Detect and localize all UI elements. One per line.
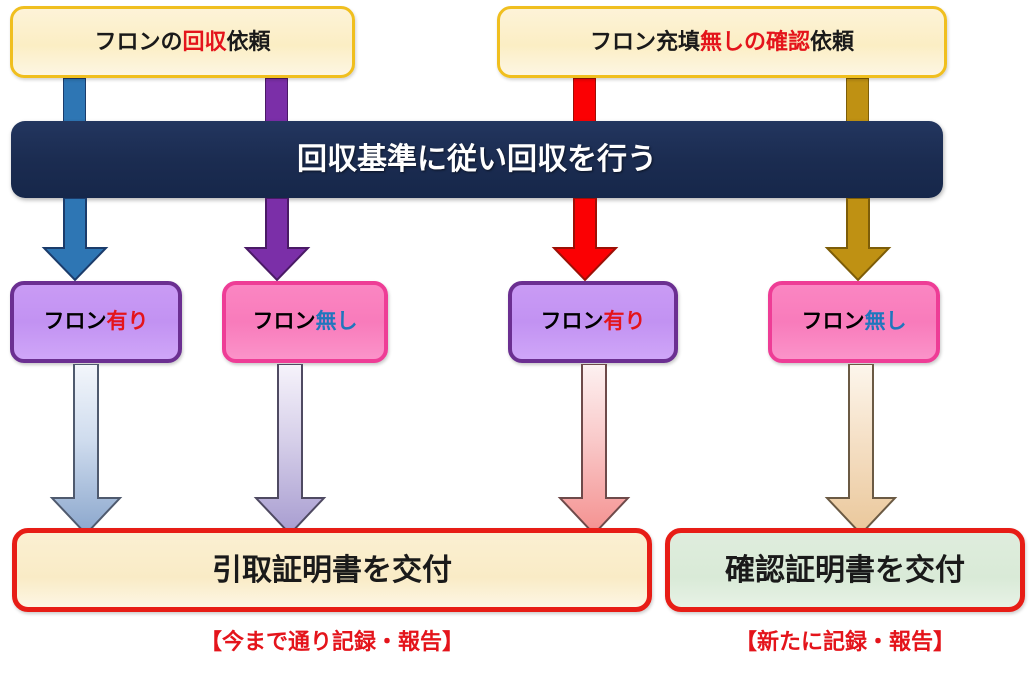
state-box-3-has-freon[interactable]: フロン有り (508, 281, 678, 363)
request-box-recovery-label: フロンの回収依頼 (94, 30, 270, 54)
text-run-plain-3: フロン充填 (590, 29, 700, 54)
flowchart-canvas: フロンの回収依頼 フロン充填無しの確認依頼 回収基準に従い回収を行う フロン有り (0, 0, 1035, 677)
process-bar-label: 回収基準に従い回収を行う (297, 143, 657, 176)
outcome-box-confirmation-certificate[interactable]: 確認証明書を交付 (665, 528, 1025, 612)
arrow-down-red (550, 198, 620, 282)
process-bar-recovery-standard[interactable]: 回収基準に従い回収を行う (11, 121, 943, 198)
state-box-2-label: フロン無し (253, 310, 358, 333)
arrow-down-tan (823, 364, 899, 536)
arrow-down-steel-blue (48, 364, 124, 536)
caption-left-text: 【今まで通り記録・報告】 (200, 629, 464, 654)
arrow-down-blue (40, 198, 110, 282)
text-run-accent-2: 無しの確認 (700, 29, 810, 54)
text-run-plain-2: 依頼 (227, 29, 271, 54)
connector-blue-stem (63, 78, 86, 126)
request-box-no-charge-confirm[interactable]: フロン充填無しの確認依頼 (497, 6, 947, 78)
text-run-plain-1: フロンの (94, 29, 182, 54)
arrow-down-gold (823, 198, 893, 282)
state-box-1-has-freon[interactable]: フロン有り (10, 281, 182, 363)
arrow-down-purple (242, 198, 312, 282)
state-box-1-label: フロン有り (44, 310, 149, 333)
text-run-plain-4: 依頼 (810, 29, 854, 54)
connector-red-stem (573, 78, 596, 126)
text-run-accent-1: 回収 (182, 29, 226, 54)
connector-gold-stem (846, 78, 869, 126)
state-box-3-label: フロン有り (541, 310, 646, 333)
outcome-box-takeover-certificate[interactable]: 引取証明書を交付 (12, 528, 652, 612)
state-2-prefix: フロン (253, 310, 316, 333)
outcome-left-label: 引取証明書を交付 (212, 554, 452, 587)
arrow-down-salmon (556, 364, 632, 536)
state-box-4-label: フロン無し (802, 310, 907, 333)
caption-existing-reporting: 【今まで通り記録・報告】 (12, 624, 652, 656)
caption-new-reporting: 【新たに記録・報告】 (665, 624, 1025, 656)
request-box-no-charge-confirm-label: フロン充填無しの確認依頼 (590, 30, 854, 54)
state-4-accent: 無し (865, 310, 907, 333)
state-1-accent: 有り (107, 310, 149, 333)
outcome-right-label: 確認証明書を交付 (725, 554, 965, 587)
state-box-2-no-freon[interactable]: フロン無し (222, 281, 388, 363)
connector-purple-stem (265, 78, 288, 126)
arrow-down-lavender (252, 364, 328, 536)
caption-right-text: 【新たに記録・報告】 (735, 629, 955, 654)
request-box-recovery[interactable]: フロンの回収依頼 (10, 6, 355, 78)
state-2-accent: 無し (316, 310, 358, 333)
state-3-accent: 有り (604, 310, 646, 333)
state-1-prefix: フロン (44, 310, 107, 333)
state-4-prefix: フロン (802, 310, 865, 333)
state-box-4-no-freon[interactable]: フロン無し (768, 281, 940, 363)
state-3-prefix: フロン (541, 310, 604, 333)
